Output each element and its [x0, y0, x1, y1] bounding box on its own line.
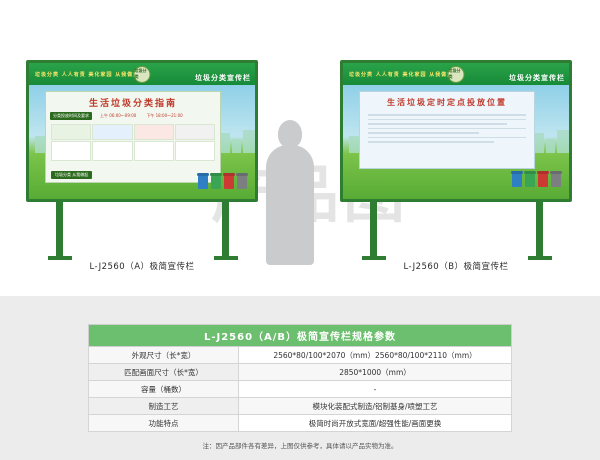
leg: [536, 202, 543, 258]
poster-a-subtitle-text: 分类投放时间及要求: [50, 112, 92, 120]
billboard-b-scene: 生活垃圾定时定点投放位置: [343, 85, 569, 199]
spec-key: 制造工艺: [89, 398, 239, 415]
billboard-a-caption: L-J2560（A）极简宣传栏: [26, 260, 258, 272]
poster-a-time-pm: 下午 18:00～21:00: [146, 113, 182, 119]
spec-key: 外观尺寸（长*宽）: [89, 347, 239, 364]
spec-key: 匹配画面尺寸（长*宽）: [89, 364, 239, 381]
poster-a-subtitle: 分类投放时间及要求 上午 06:00～09:00 下午 18:00～21:00: [50, 112, 216, 120]
table-row: 外观尺寸（长*宽） 2560*80/100*2070（mm）2560*80/10…: [89, 347, 512, 364]
spec-value: 模块化装配式制造/铝制基身/喷塑工艺: [239, 398, 512, 415]
grid-cell: [134, 124, 174, 140]
human-scale-silhouette: [262, 120, 318, 265]
spec-value: 2850*1000（mm）: [239, 364, 512, 381]
poster-a-footer: 垃圾分类 从我做起: [51, 171, 92, 179]
table-row: 制造工艺 模块化装配式制造/铝制基身/喷塑工艺: [89, 398, 512, 415]
bin-row-b: [512, 173, 561, 187]
poster-b-text-lines: [368, 114, 526, 143]
grid-cell: [175, 141, 215, 161]
spec-value: -: [239, 381, 512, 398]
billboard-a-panel: 垃圾分类 人人有责 美化家园 从我做起 垃圾分类 垃圾分类宣传栏 WASTE S…: [26, 60, 258, 202]
spec-key: 功能特点: [89, 415, 239, 432]
footnote: 注：因产品部件各有差异，上图仅供参考，具体请以产品实物为准。: [0, 440, 600, 450]
poster-b-title: 生活垃圾定时定点投放位置: [360, 97, 534, 108]
grid-cell: [51, 141, 91, 161]
billboard-b-title-cn: 垃圾分类宣传栏: [509, 74, 565, 82]
billboard-b-panel: 垃圾分类 人人有责 美化家园 从我做起 垃圾分类 垃圾分类宣传栏 WASTE S…: [340, 60, 572, 202]
leg: [56, 202, 63, 258]
bin-green-icon: [525, 173, 535, 187]
spec-key: 容量（桶数）: [89, 381, 239, 398]
table-row: 容量（桶数） -: [89, 381, 512, 398]
billboard-a-poster: 生活垃圾分类指南 分类投放时间及要求 上午 06:00～09:00 下午 18:…: [45, 91, 221, 183]
table-row: 功能特点 极简时尚开放式宽面/超强性能/画面更换: [89, 415, 512, 432]
billboard-a-scene: 生活垃圾分类指南 分类投放时间及要求 上午 06:00～09:00 下午 18:…: [29, 85, 255, 199]
silhouette-body: [266, 145, 314, 265]
billboard-b: 垃圾分类 人人有责 美化家园 从我做起 垃圾分类 垃圾分类宣传栏 WASTE S…: [340, 60, 572, 260]
product-spec-sheet: 产品图 垃圾分类 人人有责 美化家园 从我做起 垃圾分类 垃圾分类宣传栏 WAS…: [0, 0, 600, 460]
billboard-a-header: 垃圾分类 人人有责 美化家园 从我做起 垃圾分类 垃圾分类宣传栏 WASTE S…: [29, 63, 255, 85]
billboard-a: 垃圾分类 人人有责 美化家园 从我做起 垃圾分类 垃圾分类宣传栏 WASTE S…: [26, 60, 258, 260]
spec-table-area: L-J2560（A/B）极简宣传栏规格参数 外观尺寸（长*宽） 2560*80/…: [0, 296, 600, 460]
recycle-badge-icon: 垃圾分类: [448, 66, 465, 83]
bin-gray-icon: [551, 173, 561, 187]
poster-a-time-am: 上午 06:00～09:00: [100, 113, 136, 119]
spec-table-title: L-J2560（A/B）极简宣传栏规格参数: [89, 325, 512, 347]
grid-cell: [134, 141, 174, 161]
grid-cell: [51, 124, 91, 140]
grid-cell: [92, 141, 132, 161]
grid-cell: [175, 124, 215, 140]
billboard-b-header: 垃圾分类 人人有责 美化家园 从我做起 垃圾分类 垃圾分类宣传栏 WASTE S…: [343, 63, 569, 85]
billboard-b-poster: 生活垃圾定时定点投放位置: [359, 91, 535, 169]
silhouette-head: [278, 120, 302, 148]
bin-gray-icon: [237, 175, 247, 189]
illustration-area: 产品图 垃圾分类 人人有责 美化家园 从我做起 垃圾分类 垃圾分类宣传栏 WAS…: [0, 0, 600, 296]
billboard-b-caption: L-J2560（B）极简宣传栏: [340, 260, 572, 272]
leg: [370, 202, 377, 258]
bin-green-icon: [211, 175, 221, 189]
billboard-b-slogan: 垃圾分类 人人有责 美化家园 从我做起: [349, 71, 453, 78]
billboard-a-title-cn: 垃圾分类宣传栏: [195, 74, 251, 82]
leg: [222, 202, 229, 258]
grid-row: [51, 124, 215, 140]
grid-cell: [92, 124, 132, 140]
bin-blue-icon: [512, 173, 522, 187]
spec-value: 极简时尚开放式宽面/超强性能/画面更换: [239, 415, 512, 432]
bin-row-a: [198, 175, 247, 189]
spec-value: 2560*80/100*2070（mm）2560*80/100*2110（mm）: [239, 347, 512, 364]
billboard-a-slogan: 垃圾分类 人人有责 美化家园 从我做起: [35, 71, 139, 78]
table-row: 匹配画面尺寸（长*宽） 2850*1000（mm）: [89, 364, 512, 381]
bin-red-icon: [538, 173, 548, 187]
bin-blue-icon: [198, 175, 208, 189]
poster-a-category-grid: [51, 124, 215, 161]
spec-table: L-J2560（A/B）极简宣传栏规格参数 外观尺寸（长*宽） 2560*80/…: [88, 324, 512, 432]
recycle-badge-icon: 垃圾分类: [134, 66, 151, 83]
bin-red-icon: [224, 175, 234, 189]
grid-row: [51, 141, 215, 161]
poster-a-title: 生活垃圾分类指南: [46, 96, 220, 109]
